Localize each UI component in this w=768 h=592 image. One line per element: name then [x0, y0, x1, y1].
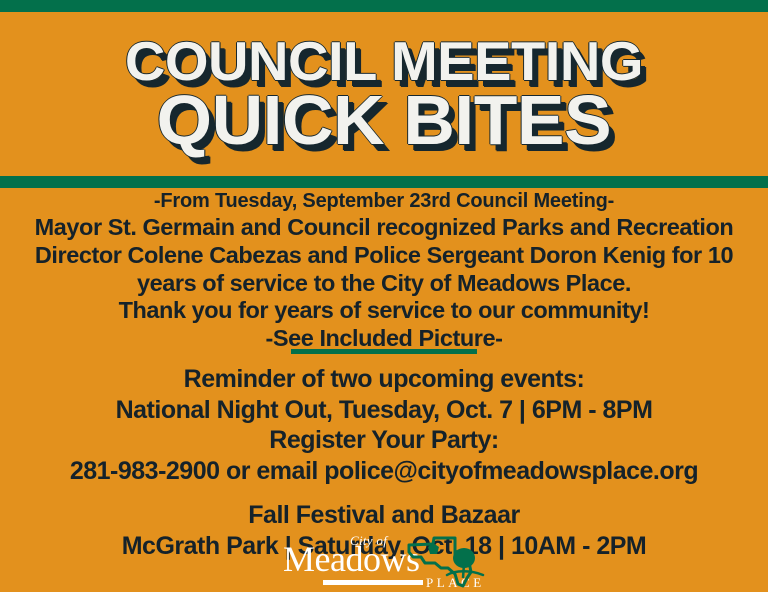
body-copy-block: -From Tuesday, September 23rd Council Me… [0, 190, 768, 353]
events-block: Reminder of two upcoming events: Nationa… [0, 364, 768, 561]
register-party-label: Register Your Party: [0, 425, 768, 456]
section-green-divider [291, 349, 477, 354]
header-title-block: COUNCIL MEETING QUICK BITES [0, 12, 768, 176]
city-of-meadows-place-logo: City of Meadows PLACE [283, 533, 488, 591]
top-green-bar [0, 0, 768, 12]
title-line-quick-bites: QUICK BITES [157, 88, 612, 152]
register-contact-line: 281-983-2900 or email police@cityofmeado… [0, 456, 768, 487]
national-night-out-details: National Night Out, Tuesday, Oct. 7 | 6P… [0, 395, 768, 426]
thank-you-line: Thank you for years of service to our co… [0, 297, 768, 325]
recognition-line-2: Director Colene Cabezas and Police Serge… [0, 242, 768, 270]
recognition-line-1: Mayor St. Germain and Council recognized… [0, 214, 768, 242]
recognition-line-3: years of service to the City of Meadows … [0, 270, 768, 298]
header-green-divider [0, 176, 768, 188]
event-group-national-night-out: Reminder of two upcoming events: Nationa… [0, 364, 768, 486]
meeting-source-line: -From Tuesday, September 23rd Council Me… [0, 190, 768, 214]
title-line-council-meeting: COUNCIL MEETING [125, 36, 643, 87]
flyer-canvas: COUNCIL MEETING QUICK BITES -From Tuesda… [0, 0, 768, 592]
logo-meadows-text: Meadows [283, 541, 419, 577]
texas-outline-tree-icon [403, 534, 488, 590]
events-intro-line: Reminder of two upcoming events: [0, 364, 768, 395]
fall-festival-name: Fall Festival and Bazaar [0, 500, 768, 531]
